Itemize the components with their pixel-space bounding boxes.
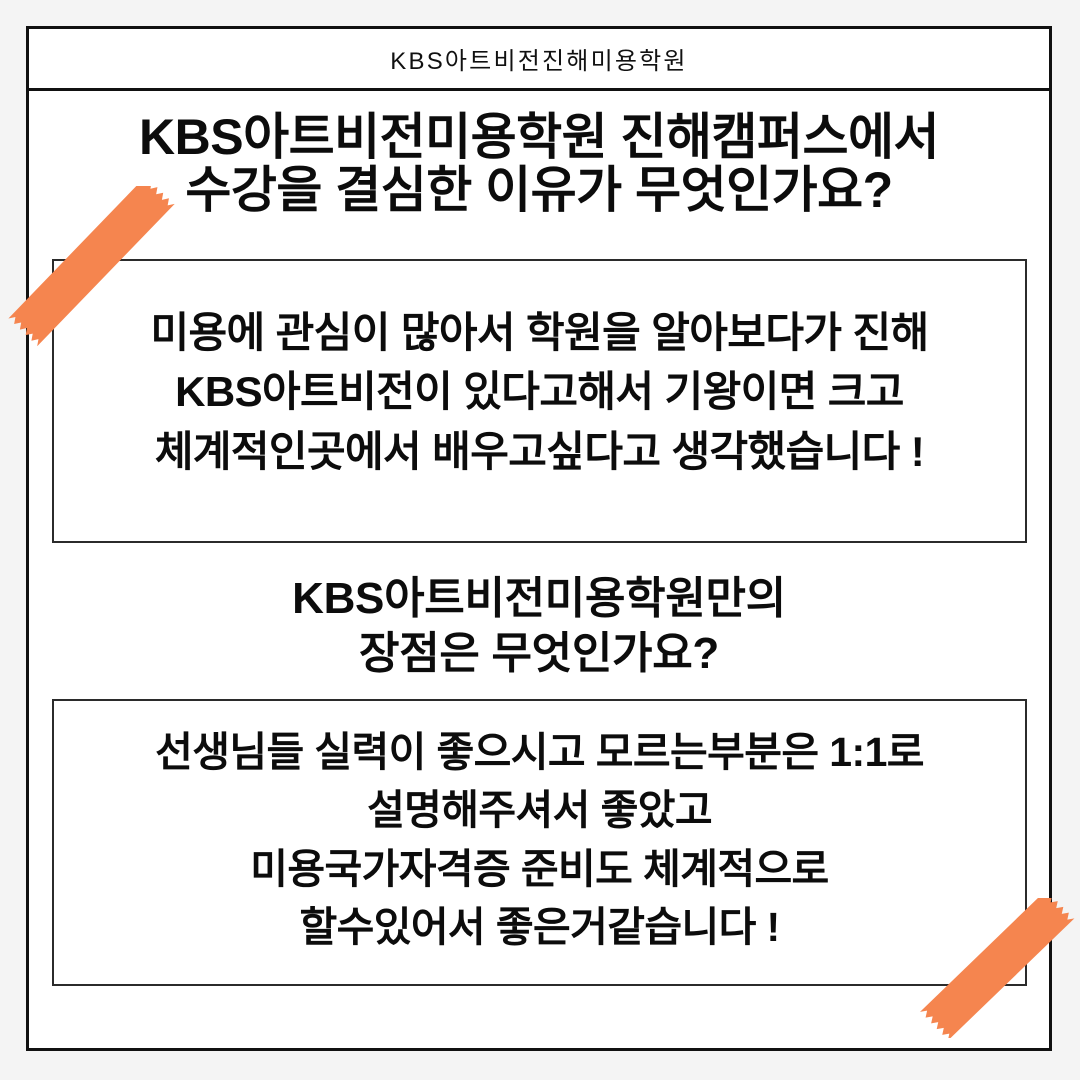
- answer-text-2: 선생님들 실력이 좋으시고 모르는부분은 1:1로 설명해주셔서 좋았고 미용국…: [54, 723, 1025, 956]
- poster-frame: KBS아트비전진해미용학원 KBS아트비전미용학원 진해캠퍼스에서 수강을 결심…: [26, 26, 1052, 1051]
- header-bar: KBS아트비전진해미용학원: [29, 29, 1049, 91]
- academy-name-header: KBS아트비전진해미용학원: [390, 41, 687, 76]
- answer-box-1: 미용에 관심이 많아서 학원을 알아보다가 진해 KBS아트비전이 있다고해서 …: [52, 259, 1027, 543]
- poster-content: KBS아트비전미용학원 진해캠퍼스에서 수강을 결심한 이유가 무엇인가요? 미…: [29, 91, 1049, 1048]
- question-heading-2: KBS아트비전미용학원만의 장점은 무엇인가요?: [29, 571, 1049, 681]
- question-heading-1: KBS아트비전미용학원 진해캠퍼스에서 수강을 결심한 이유가 무엇인가요?: [29, 111, 1049, 217]
- answer-text-1: 미용에 관심이 많아서 학원을 알아보다가 진해 KBS아트비전이 있다고해서 …: [54, 303, 1025, 482]
- answer-box-2: 선생님들 실력이 좋으시고 모르는부분은 1:1로 설명해주셔서 좋았고 미용국…: [52, 699, 1027, 986]
